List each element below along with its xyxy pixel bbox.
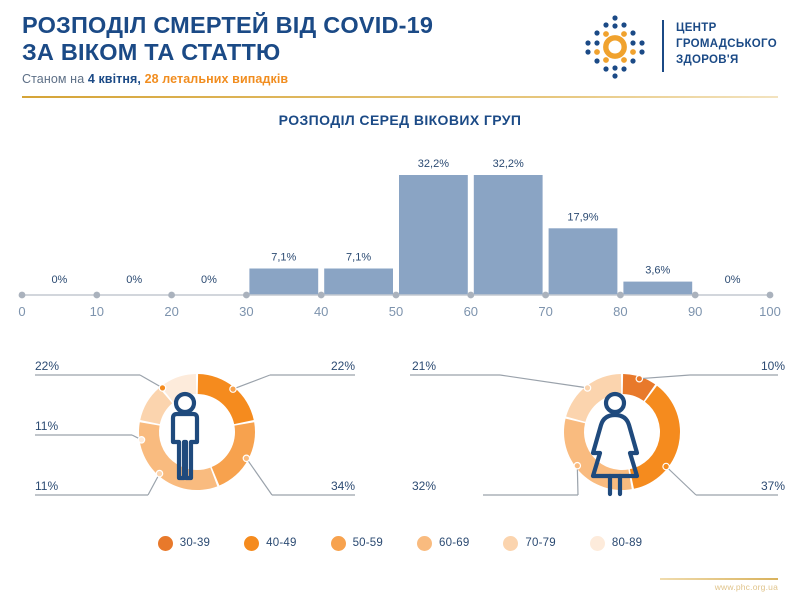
legend-color-swatch	[244, 536, 259, 551]
callout-dot	[574, 463, 580, 469]
legend-label: 50-59	[353, 537, 383, 549]
callout-dot	[584, 385, 590, 391]
axis-tick-label: 70	[538, 304, 552, 319]
logo-text: ЦЕНТР ГРОМАДСЬКОГО ЗДОРОВ'Я	[676, 20, 777, 68]
donut-percent-label: 22%	[331, 359, 355, 373]
page-title-line2: ЗА ВІКОМ ТА СТАТТЮ	[22, 39, 492, 66]
bar	[549, 228, 618, 295]
bar	[623, 282, 692, 295]
bar-value-label: 3,6%	[645, 265, 670, 277]
donut-percent-label: 10%	[761, 359, 785, 373]
bar	[249, 269, 318, 296]
legend-item: 50-59	[331, 536, 383, 551]
donut-percent-label: 34%	[331, 479, 355, 493]
axis-tick-dot	[542, 292, 549, 299]
age-group-legend: 30-3940-4950-5960-6970-7980-89	[0, 530, 800, 556]
callout-dot	[230, 386, 236, 392]
donut-percent-label: 21%	[412, 359, 436, 373]
legend-label: 70-79	[525, 537, 555, 549]
bar-value-label: 32,2%	[493, 158, 524, 170]
page-title-line1: РОЗПОДІЛ СМЕРТЕЙ ВІД COVID-19	[22, 12, 492, 39]
legend-color-swatch	[590, 536, 605, 551]
callout-leader-line	[246, 458, 272, 495]
axis-tick-label: 20	[164, 304, 178, 319]
bar	[324, 269, 393, 296]
axis-tick-dot	[467, 292, 474, 299]
bar-value-label: 0%	[725, 274, 741, 286]
axis-tick-label: 100	[759, 304, 781, 319]
callout-dot	[636, 376, 642, 382]
organization-logo: ЦЕНТР ГРОМАДСЬКОГО ЗДОРОВ'Я	[578, 12, 788, 82]
callout-leader-line	[500, 375, 588, 388]
bar	[399, 175, 468, 295]
legend-color-swatch	[503, 536, 518, 551]
axis-tick-dot	[93, 292, 100, 299]
logo-line-2: ГРОМАДСЬКОГО	[676, 36, 777, 52]
donut-percent-label: 11%	[35, 479, 58, 493]
bar-value-labels: 0%0%0%7,1%7,1%32,2%32,2%17,9%3,6%0%	[51, 158, 740, 286]
donut-percent-label: 32%	[412, 479, 436, 493]
bars-group	[249, 175, 692, 295]
donut-slice	[212, 422, 255, 485]
axis-tick-label: 0	[18, 304, 25, 319]
male-age-donut-chart: 22%11%11%22%34%	[0, 352, 400, 517]
axis-tick-label: 30	[239, 304, 253, 319]
bar	[474, 175, 543, 295]
axis-tick-label: 50	[389, 304, 403, 319]
bar-value-label: 17,9%	[567, 211, 598, 223]
axis-tick-label: 60	[464, 304, 478, 319]
callout-dot	[663, 463, 669, 469]
donut-percent-label: 11%	[35, 419, 58, 433]
bar-value-label: 7,1%	[271, 252, 296, 264]
callout-leader-line	[639, 375, 690, 379]
bar-value-label: 7,1%	[346, 252, 371, 264]
donut-slice	[198, 374, 254, 424]
callout-dot	[156, 470, 162, 476]
header: РОЗПОДІЛ СМЕРТЕЙ ВІД COVID-19 ЗА ВІКОМ Т…	[0, 0, 800, 96]
axis-tick-label: 10	[90, 304, 104, 319]
axis-tick-label: 90	[688, 304, 702, 319]
bar-value-label: 32,2%	[418, 158, 449, 170]
axis-tick-label: 40	[314, 304, 328, 319]
axis-tick-dot	[243, 292, 250, 299]
callout-leader-line	[140, 375, 163, 388]
callout-dot	[159, 385, 165, 391]
female-age-donut-chart: 21%32%10%37%	[400, 352, 800, 517]
title-block: РОЗПОДІЛ СМЕРТЕЙ ВІД COVID-19 ЗА ВІКОМ Т…	[22, 12, 492, 86]
legend-label: 80-89	[612, 537, 642, 549]
footer-url[interactable]: www.phc.org.ua	[660, 582, 778, 592]
logo-line-3: ЗДОРОВ'Я	[676, 52, 777, 68]
callout-dot	[243, 455, 249, 461]
legend-label: 30-39	[180, 537, 210, 549]
legend-color-swatch	[158, 536, 173, 551]
subtitle-date: 4 квітня,	[88, 72, 141, 86]
axis-tick-dot	[19, 292, 26, 299]
callout-dot	[138, 437, 144, 443]
legend-item: 30-39	[158, 536, 210, 551]
legend-label: 60-69	[439, 537, 469, 549]
page-subtitle: Станом на 4 квітня, 28 летальних випадкі…	[22, 72, 492, 86]
logo-dots-icon	[578, 12, 652, 82]
x-axis-tick-labels: 0102030405060708090100	[18, 304, 780, 319]
donut-percent-label: 22%	[35, 359, 59, 373]
bar-chart-title: РОЗПОДІЛ СЕРЕД ВІКОВИХ ГРУП	[0, 112, 800, 128]
legend-label: 40-49	[266, 537, 296, 549]
axis-tick-dot	[318, 292, 325, 299]
axis-tick-dot	[168, 292, 175, 299]
legend-item: 60-69	[417, 536, 469, 551]
axis-tick-label: 80	[613, 304, 627, 319]
legend-color-swatch	[331, 536, 346, 551]
legend-item: 80-89	[590, 536, 642, 551]
axis-tick-dot	[617, 292, 624, 299]
legend-item: 70-79	[503, 536, 555, 551]
bar-value-label: 0%	[51, 274, 67, 286]
axis-tick-dot	[767, 292, 774, 299]
legend-color-swatch	[417, 536, 432, 551]
footer-divider	[660, 578, 778, 580]
legend-item: 40-49	[244, 536, 296, 551]
callout-leader-line	[666, 467, 696, 496]
axis-tick-dot	[393, 292, 400, 299]
bar-value-label: 0%	[201, 274, 217, 286]
bar-value-label: 0%	[126, 274, 142, 286]
axis-tick-dot	[692, 292, 699, 299]
header-divider	[22, 96, 778, 98]
logo-divider	[662, 20, 664, 72]
logo-line-1: ЦЕНТР	[676, 20, 777, 36]
callout-leader-line	[577, 466, 578, 495]
subtitle-accent: 28 летальних випадків	[141, 72, 288, 86]
female-donut-slices	[564, 374, 680, 490]
age-distribution-bar-chart: 0%0%0%7,1%7,1%32,2%32,2%17,9%3,6%0% 0102…	[0, 145, 800, 330]
callout-leader-line	[233, 375, 270, 389]
subtitle-prefix: Станом на	[22, 72, 88, 86]
donut-percent-label: 37%	[761, 479, 785, 493]
